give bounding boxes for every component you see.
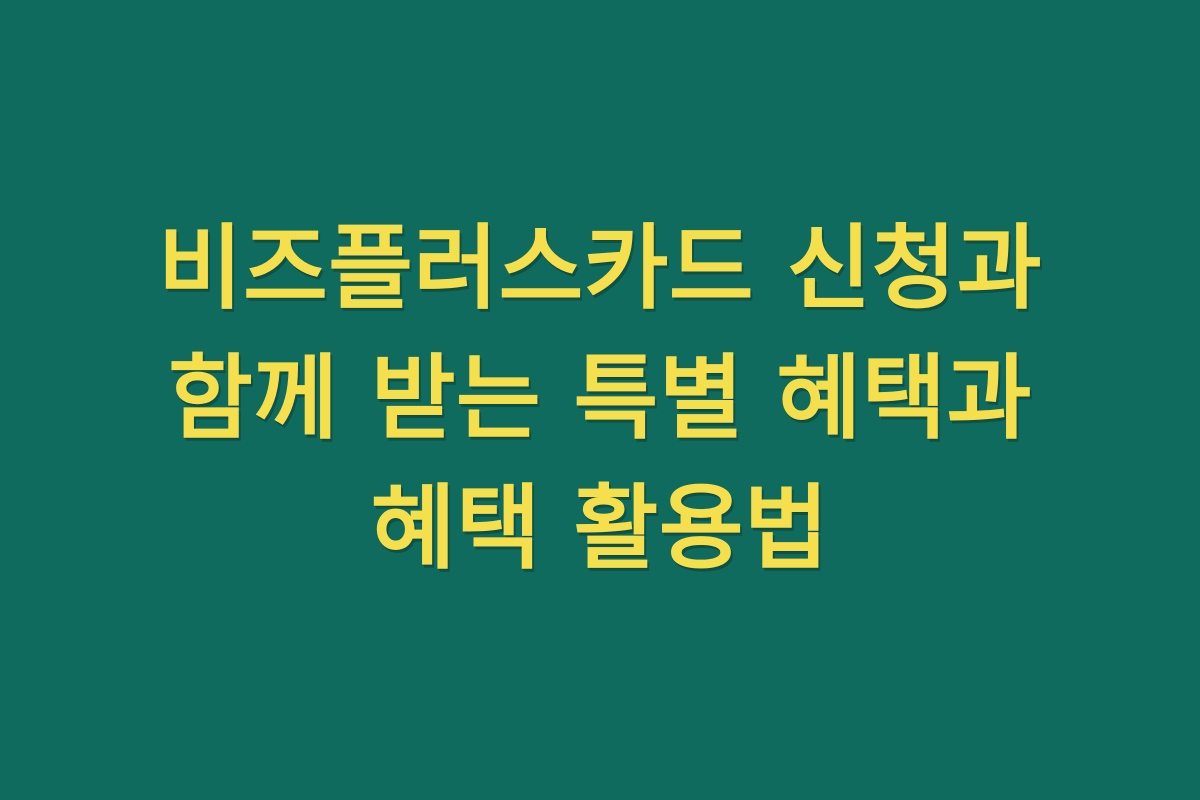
title-thumbnail-card: 비즈플러스카드 신청과 함께 받는 특별 혜택과 혜택 활용법: [0, 0, 1200, 800]
title-line-2: 함께 받는 특별 혜택과: [40, 334, 1160, 464]
title-line-1: 비즈플러스카드 신청과: [40, 204, 1160, 334]
title-line-3: 혜택 활용법: [40, 464, 1160, 594]
page-title: 비즈플러스카드 신청과 함께 받는 특별 혜택과 혜택 활용법: [0, 204, 1200, 594]
